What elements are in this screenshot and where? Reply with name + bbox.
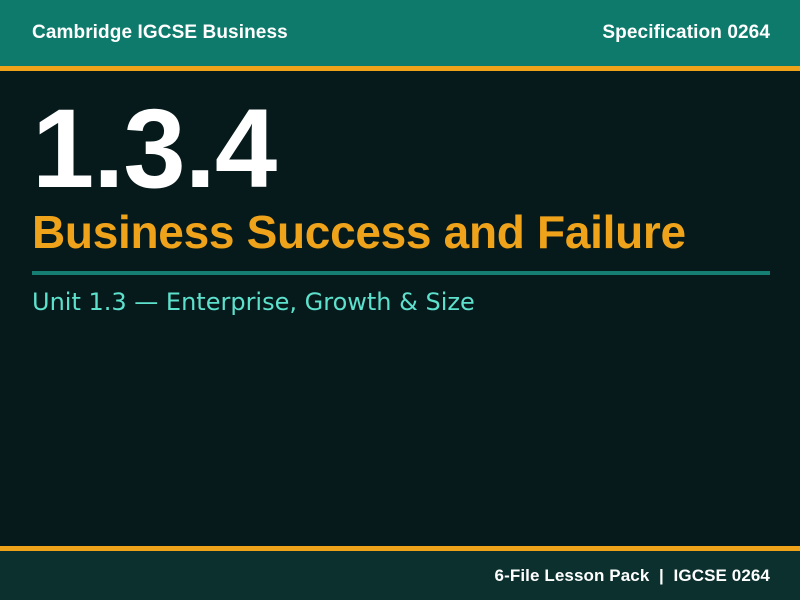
unit-subtitle: Unit 1.3 — Enterprise, Growth & Size [32,290,475,314]
title-divider-rule [32,271,770,275]
slide-footer: 6-File Lesson Pack | IGCSE 0264 [0,551,800,600]
header-specification-label: Specification 0264 [602,22,770,44]
slide-body: 1.3.4 Business Success and Failure Unit … [0,71,800,546]
slide-header: Cambridge IGCSE Business Specification 0… [0,0,800,66]
lesson-title: Business Success and Failure [32,209,686,255]
lesson-code: 1.3.4 [32,93,276,205]
slide-root: Cambridge IGCSE Business Specification 0… [0,0,800,600]
header-course-label: Cambridge IGCSE Business [32,22,288,44]
footer-pack-label: 6-File Lesson Pack | IGCSE 0264 [495,566,770,586]
